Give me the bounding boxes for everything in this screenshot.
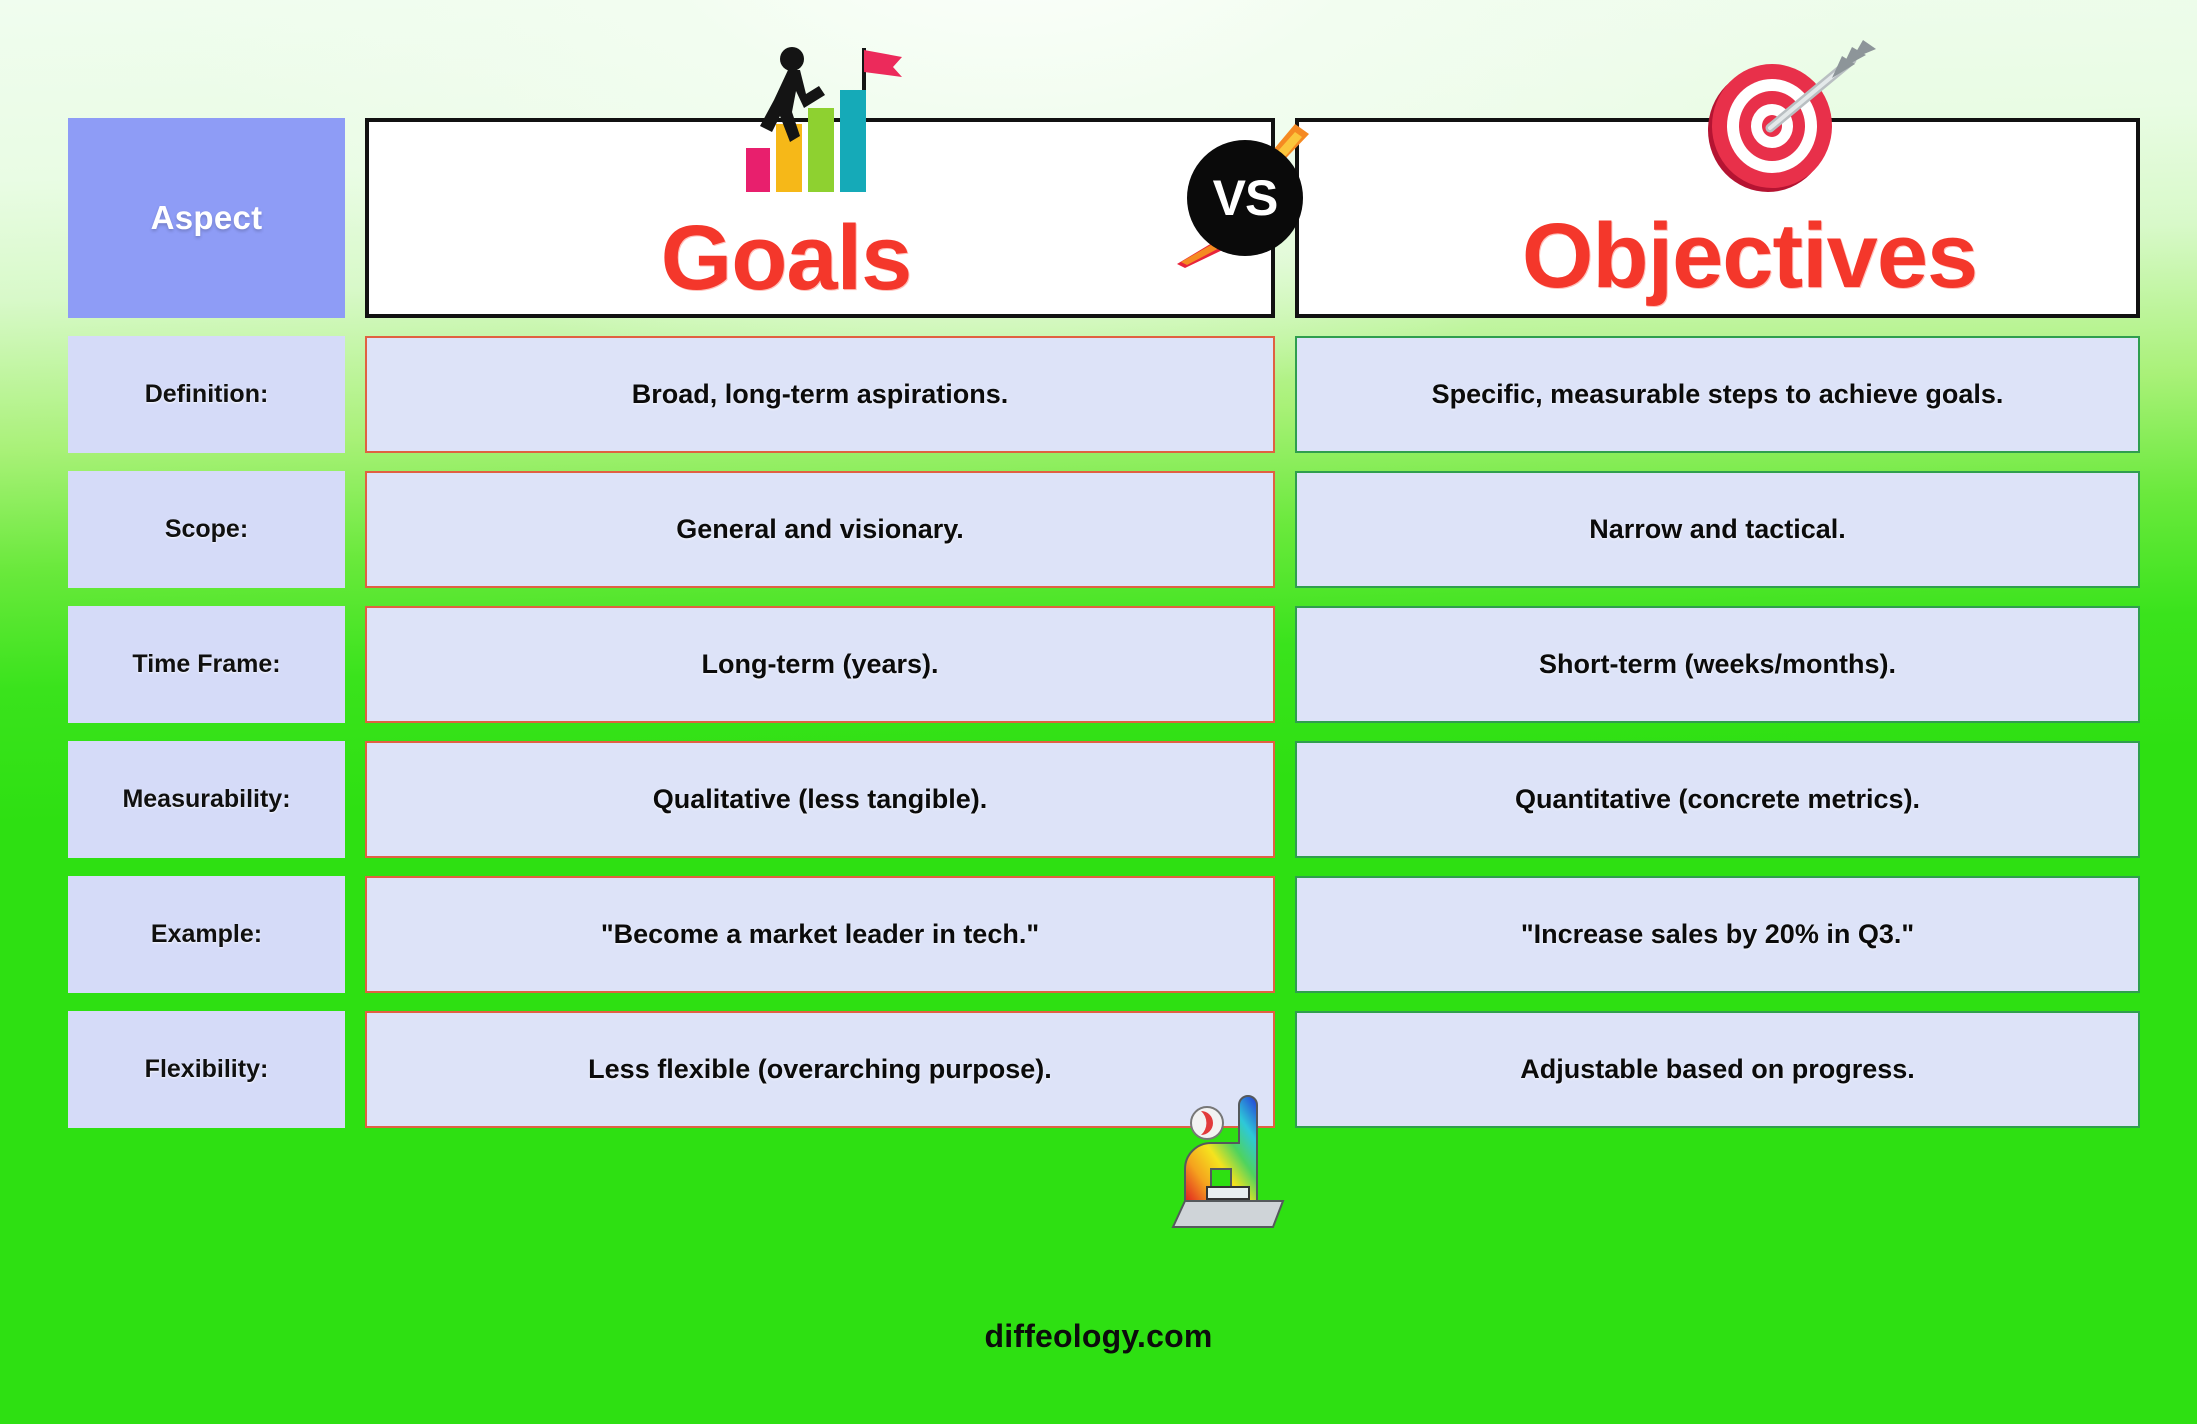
vs-circle: VS [1187,140,1303,256]
objectives-value: Short-term (weeks/months). [1295,606,2140,723]
objectives-value: Specific, measurable steps to achieve go… [1295,336,2140,453]
goals-value: "Become a market leader in tech." [365,876,1275,993]
row-label: Flexibility: [68,1011,345,1128]
objectives-value: "Increase sales by 20% in Q3." [1295,876,2140,993]
objectives-value: Quantitative (concrete metrics). [1295,741,2140,858]
goals-value: Less flexible (overarching purpose). [365,1011,1275,1128]
target-dartboard-icon [1692,40,1882,215]
row-label: Definition: [68,336,345,453]
goals-title: Goals [661,214,912,302]
aspect-header-cell: Aspect [68,118,345,318]
objectives-value: Narrow and tactical. [1295,471,2140,588]
row-label: Example: [68,876,345,993]
goals-value: General and visionary. [365,471,1275,588]
objectives-header-cell: Objectives [1295,118,2140,318]
comparison-table: Aspect Goals [68,118,2110,1128]
vs-label: VS [1213,173,1278,223]
goals-value: Long-term (years). [365,606,1275,723]
aspect-header-label: Aspect [151,199,263,237]
objectives-title: Objectives [1522,212,1977,300]
watermark: diffeology.com [0,1318,2197,1355]
goals-value: Qualitative (less tangible). [365,741,1275,858]
row-label: Time Frame: [68,606,345,723]
objectives-value: Adjustable based on progress. [1295,1011,2140,1128]
bar-chart-growth-icon [688,46,918,206]
infographic-canvas: Aspect Goals [0,0,2197,1424]
row-label: Scope: [68,471,345,588]
vs-badge: VS [1187,140,1303,256]
row-label: Measurability: [68,741,345,858]
goals-value: Broad, long-term aspirations. [365,336,1275,453]
goals-header-cell: Goals [365,118,1275,318]
